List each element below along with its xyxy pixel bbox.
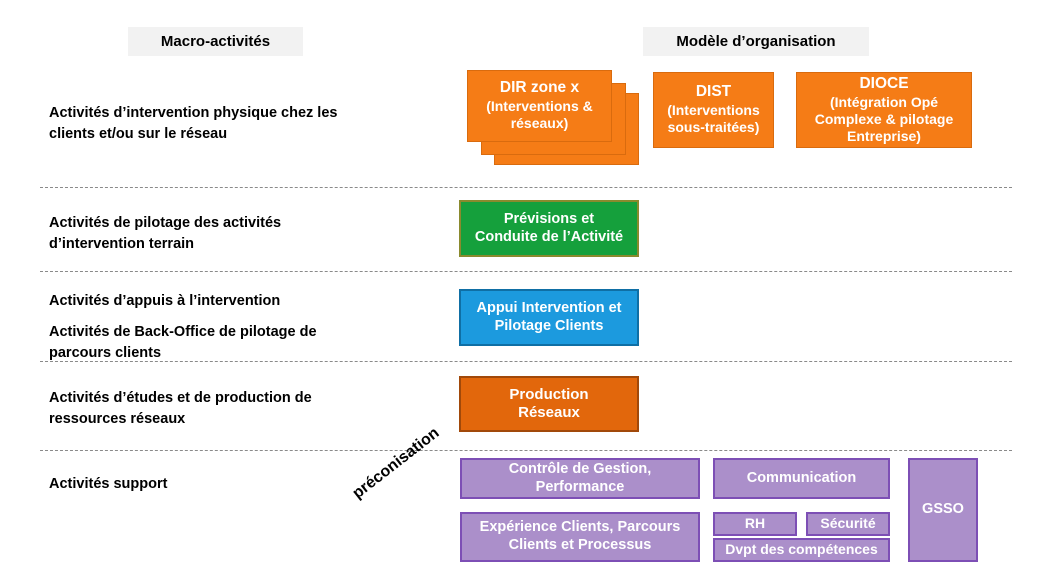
box-appui-line2: Pilotage Clients: [473, 318, 626, 336]
box-previsions-line1: Prévisions et: [471, 211, 627, 229]
box-appui-intervention-pilotage-clients[interactable]: Appui Intervention et Pilotage Clients: [459, 289, 639, 346]
box-dioce-sub3: Entreprise): [811, 128, 957, 145]
row-label-intervention-physique: Activités d’intervention physique chez l…: [49, 103, 444, 145]
box-dvpt-competences-label: Dvpt des compétences: [721, 541, 882, 558]
header-pill-macro-activites: Macro-activités: [128, 27, 303, 56]
box-dioce-title: DIOCE: [811, 75, 957, 94]
box-controle-line2: Performance: [505, 479, 656, 497]
box-controle-gestion-performance[interactable]: Contrôle de Gestion, Performance: [460, 458, 700, 499]
box-previsions-line2: Conduite de l’Activité: [471, 229, 627, 247]
row-label-pilotage-intervention: Activités de pilotage des activités d’in…: [49, 213, 444, 255]
row-separator-3: [40, 361, 1012, 362]
row-separator-2: [40, 271, 1012, 272]
header-pill-macro-activites-label: Macro-activités: [161, 33, 270, 50]
box-dir-zone-sub2: réseaux): [482, 115, 597, 132]
box-dist-sub2: sous-traitées): [663, 119, 764, 136]
box-previsions-conduite-activite[interactable]: Prévisions et Conduite de l’Activité: [459, 200, 639, 257]
box-experience-line1: Expérience Clients, Parcours: [476, 519, 685, 537]
row-label-line: Activités de Back-Office de pilotage de: [49, 322, 444, 343]
box-production-reseaux[interactable]: Production Réseaux: [459, 376, 639, 432]
box-dir-zone-sub1: (Interventions &: [482, 98, 597, 115]
row-label-line: clients et/ou sur le réseau: [49, 124, 444, 145]
box-experience-clients-parcours[interactable]: Expérience Clients, Parcours Clients et …: [460, 512, 700, 562]
box-gsso-label: GSSO: [918, 501, 968, 519]
box-securite[interactable]: Sécurité: [806, 512, 890, 536]
box-dir-zone[interactable]: DIR zone x (Interventions & réseaux): [467, 70, 612, 142]
box-rh-label: RH: [741, 515, 769, 532]
row-label-line: d’intervention terrain: [49, 234, 444, 255]
box-dioce-sub2: Complexe & pilotage: [811, 111, 957, 128]
row-label-etudes-production: Activités d’études et de production de r…: [49, 388, 444, 430]
box-experience-line2: Clients et Processus: [476, 537, 685, 555]
header-pill-modele-organisation-label: Modèle d’organisation: [676, 33, 835, 50]
box-securite-label: Sécurité: [816, 515, 879, 532]
row-label-line: Activités de pilotage des activités: [49, 213, 444, 234]
row-label-line: ressources réseaux: [49, 409, 444, 430]
box-gsso[interactable]: GSSO: [908, 458, 978, 562]
box-dioce[interactable]: DIOCE (Intégration Opé Complexe & pilota…: [796, 72, 972, 148]
row-separator-1: [40, 187, 1012, 188]
row-label-appuis-intervention: Activités d’appuis à l’intervention Acti…: [49, 291, 444, 364]
box-dvpt-competences[interactable]: Dvpt des compétences: [713, 538, 890, 562]
box-production-line1: Production: [505, 386, 592, 404]
row-label-line: Activités d’études et de production de: [49, 388, 444, 409]
row-separator-4: [40, 450, 1012, 451]
box-dioce-sub1: (Intégration Opé: [811, 94, 957, 111]
header-pill-modele-organisation: Modèle d’organisation: [643, 27, 869, 56]
row-label-line: Activités d’intervention physique chez l…: [49, 103, 444, 124]
box-appui-line1: Appui Intervention et: [473, 300, 626, 318]
box-rh[interactable]: RH: [713, 512, 797, 536]
box-dist-title: DIST: [663, 83, 764, 102]
box-controle-line1: Contrôle de Gestion,: [505, 461, 656, 479]
box-communication-label: Communication: [743, 470, 861, 488]
box-production-line2: Réseaux: [505, 404, 592, 422]
row-label-line: Activités d’appuis à l’intervention: [49, 291, 444, 312]
box-dist[interactable]: DIST (Interventions sous-traitées): [653, 72, 774, 148]
row-label-gap: [49, 312, 444, 322]
box-dist-sub1: (Interventions: [663, 102, 764, 119]
box-dir-zone-title: DIR zone x: [482, 79, 597, 98]
box-communication[interactable]: Communication: [713, 458, 890, 499]
